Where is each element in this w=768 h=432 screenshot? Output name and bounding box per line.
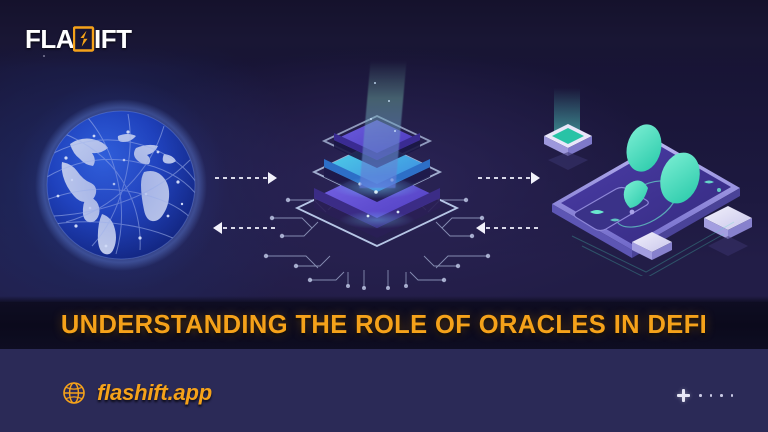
dot — [731, 394, 734, 397]
arrow-head-icon — [476, 222, 485, 234]
footer-right-decoration — [677, 389, 733, 402]
arrow-dash — [486, 227, 538, 229]
arrow-dash — [215, 177, 267, 179]
logo-text-suffix: IFT — [94, 24, 132, 54]
arrow-head-icon — [268, 172, 277, 184]
dot — [710, 394, 713, 397]
arrow-dash — [223, 227, 275, 229]
dot — [699, 394, 702, 397]
smartphone-icon — [528, 86, 764, 276]
horizontal-dots — [699, 394, 733, 397]
logo-text-prefix: FLA — [25, 24, 74, 54]
lightning-bolt-icon — [73, 26, 95, 52]
promo-banner: FLA IFT — [0, 0, 768, 432]
dot — [720, 394, 723, 397]
footer-website-text: flashift.app — [97, 382, 212, 404]
globe-icon — [62, 381, 86, 405]
arrow-dash — [478, 177, 530, 179]
arrow-head-icon — [531, 172, 540, 184]
arrow-globe-to-stack — [215, 172, 277, 184]
arrow-head-icon — [213, 222, 222, 234]
arrow-stack-to-globe — [213, 222, 275, 234]
globe-glow — [10, 74, 232, 296]
footer-website-link[interactable]: flashift.app — [62, 381, 212, 405]
isometric-blockchain-stack-illustration — [252, 60, 502, 290]
network-globe-illustration — [32, 96, 210, 274]
arrow-phone-to-stack — [476, 222, 538, 234]
flashift-logo[interactable]: FLA IFT — [25, 24, 132, 54]
arrow-stack-to-phone — [478, 172, 540, 184]
isometric-smartphone-crypto-illustration — [528, 86, 764, 276]
page-title: UNDERSTANDING THE ROLE OF ORACLES IN DEF… — [61, 313, 707, 339]
title-band: UNDERSTANDING THE ROLE OF ORACLES IN DEF… — [0, 302, 768, 349]
plus-icon — [677, 389, 690, 402]
